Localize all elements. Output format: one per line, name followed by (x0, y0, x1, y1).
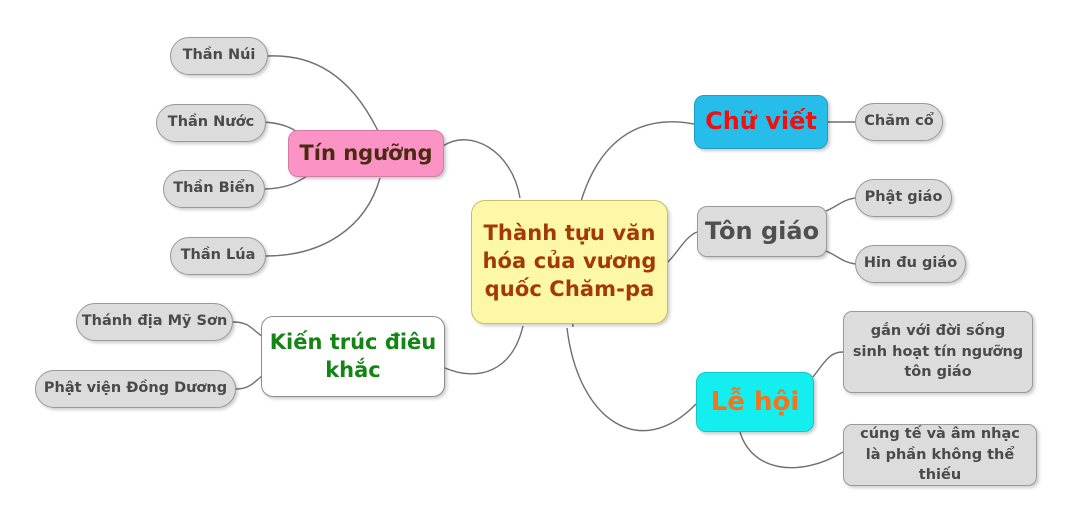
connector-ton-giao-phat-giao (826, 198, 855, 211)
branch-node-tin-nguong-label: Tín ngưỡng (289, 140, 443, 168)
leaf-node-phat-giao[interactable]: Phật giáo (855, 179, 952, 217)
desc-node-cung-te-am-nhac-label: cúng tế và âm nhạc là phần không thể thi… (852, 424, 1028, 486)
leaf-node-than-nui[interactable]: Thần Núi (170, 37, 268, 75)
connector-le-hoi-gan-voi (813, 352, 843, 377)
leaf-node-than-lua-label: Thần Lúa (171, 246, 265, 265)
connector-root-kien-truc (445, 326, 523, 374)
leaf-node-than-bien[interactable]: Thần Biển (163, 170, 265, 208)
desc-node-gan-voi-doi-song[interactable]: gắn với đời sống sinh hoạt tín ngưỡng tô… (843, 311, 1033, 393)
connector-root-ton-giao (668, 232, 697, 262)
leaf-node-than-nuoc-label: Thần Nước (157, 113, 265, 132)
branch-node-chu-viet-label: Chữ viết (695, 106, 827, 138)
branch-node-kien-truc-dieu-khac[interactable]: Kiến trúc điêu khắc (261, 316, 445, 397)
branch-node-ton-giao[interactable]: Tôn giáo (697, 206, 827, 257)
connector-root-le-hoi (567, 328, 696, 431)
leaf-node-cham-co[interactable]: Chăm cổ (855, 103, 943, 141)
connector-root-tin-nguong (443, 140, 520, 198)
leaf-node-than-nuoc[interactable]: Thần Nước (156, 104, 266, 142)
branch-node-chu-viet[interactable]: Chữ viết (694, 95, 828, 149)
leaf-node-than-nui-label: Thần Núi (171, 46, 267, 65)
root-node[interactable]: Thành tựu văn hóa của vương quốc Chăm-pa (471, 200, 668, 324)
desc-node-cung-te-am-nhac[interactable]: cúng tế và âm nhạc là phần không thể thi… (843, 424, 1037, 486)
branch-node-tin-nguong[interactable]: Tín ngưỡng (288, 130, 444, 177)
branch-node-le-hoi[interactable]: Lễ hội (696, 372, 814, 432)
connector-tin-nguong-than-nui (268, 56, 378, 131)
connector-ton-giao-hin-du-giao (826, 251, 855, 264)
leaf-node-hin-du-giao-label: Hin đu giáo (856, 254, 965, 273)
leaf-node-hin-du-giao[interactable]: Hin đu giáo (855, 245, 966, 283)
leaf-node-than-bien-label: Thần Biển (164, 179, 264, 198)
branch-node-ton-giao-label: Tôn giáo (698, 216, 826, 248)
leaf-node-thanh-dia-my-son[interactable]: Thánh địa Mỹ Sơn (76, 303, 233, 341)
leaf-node-thanh-dia-my-son-label: Thánh địa Mỹ Sơn (77, 312, 232, 331)
connector-le-hoi-cung-te (740, 432, 843, 468)
root-node-label: Thành tựu văn hóa của vương quốc Chăm-pa (472, 220, 667, 303)
mindmap-canvas: Thành tựu văn hóa của vương quốc Chăm-pa… (0, 0, 1072, 527)
connector-kien-truc-dong-duong (236, 376, 262, 389)
leaf-node-phat-vien-dong-duong-label: Phật viện Đồng Dương (36, 379, 235, 398)
connector-kien-truc-my-son (233, 322, 262, 336)
connector-tin-nguong-than-lua (266, 178, 380, 256)
leaf-node-than-lua[interactable]: Thần Lúa (170, 237, 266, 275)
desc-node-gan-voi-doi-song-label: gắn với đời sống sinh hoạt tín ngưỡng tô… (852, 321, 1024, 383)
branch-node-kien-truc-dieu-khac-label: Kiến trúc điêu khắc (262, 329, 444, 384)
leaf-node-cham-co-label: Chăm cổ (856, 112, 942, 131)
branch-node-le-hoi-label: Lễ hội (697, 385, 813, 419)
leaf-node-phat-giao-label: Phật giáo (856, 188, 951, 207)
leaf-node-phat-vien-dong-duong[interactable]: Phật viện Đồng Dương (35, 370, 236, 408)
